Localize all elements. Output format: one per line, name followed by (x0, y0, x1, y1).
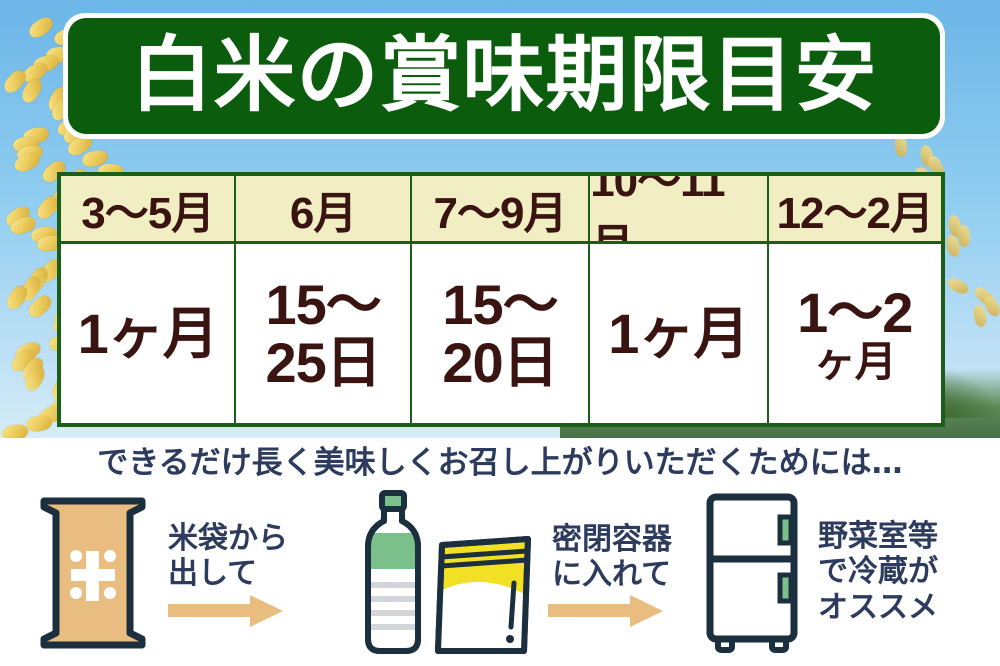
title-banner-inner: 白米の賞味期限目安 (68, 18, 940, 134)
table-header-row: 3〜5月 6月 7〜9月 10〜11月 12〜2月 (61, 176, 941, 244)
step-refrigerate: 野菜室等 で冷蔵が オススメ (702, 491, 938, 653)
title-banner: 白米の賞味期限目安 (63, 13, 945, 139)
table-value-line: 1ヶ月 (608, 305, 748, 362)
step-label: 米袋から 出して (168, 521, 288, 592)
container-icon (358, 487, 538, 659)
table-value-line: 20日 (442, 334, 557, 391)
table-value-cell: 15〜 25日 (236, 244, 409, 423)
table-value-cell: 1ヶ月 (590, 244, 766, 423)
zip-bag-icon (438, 539, 528, 651)
shelf-life-table: 3〜5月 6月 7〜9月 10〜11月 12〜2月 1ヶ月 15〜 25日 15… (57, 172, 945, 427)
caption-text: できるだけ長く美味しくお召し上がりいただくためには… (0, 437, 1000, 482)
refrigerator-icon (702, 491, 802, 653)
table-value-cell: 15〜 20日 (412, 244, 588, 423)
rice-bag-icon (34, 493, 152, 653)
table-header-cell: 10〜11月 (590, 176, 766, 241)
step-airtight-container: 密閉容器 に入れて (358, 487, 672, 659)
pet-bottle-icon (368, 493, 418, 651)
table-body-row: 1ヶ月 15〜 25日 15〜 20日 1ヶ月 1〜2 ヶ月 (61, 244, 941, 423)
table-value-line: 15〜 (442, 276, 557, 333)
step-label: 密閉容器 に入れて (552, 522, 672, 593)
table-header-cell: 12〜2月 (769, 176, 941, 241)
table-header-cell: 3〜5月 (61, 176, 234, 241)
page-title: 白米の賞味期限目安 (130, 35, 877, 117)
table-value-line: 25日 (265, 334, 380, 391)
table-value-line: 1〜2 (797, 284, 912, 341)
step-take-out-of-bag: 米袋から 出して (34, 493, 288, 653)
table-value-line: 15〜 (265, 276, 380, 333)
table-value-line: ヶ月 (814, 341, 896, 384)
table-header-cell: 6月 (236, 176, 409, 241)
step-label: 野菜室等 で冷蔵が オススメ (818, 519, 938, 625)
table-value-cell: 1ヶ月 (61, 244, 234, 423)
table-value-line: 1ヶ月 (78, 305, 218, 362)
table-value-cell: 1〜2 ヶ月 (769, 244, 941, 423)
storage-steps: 米袋から 出して (0, 487, 1000, 666)
table-header-cell: 7〜9月 (412, 176, 588, 241)
